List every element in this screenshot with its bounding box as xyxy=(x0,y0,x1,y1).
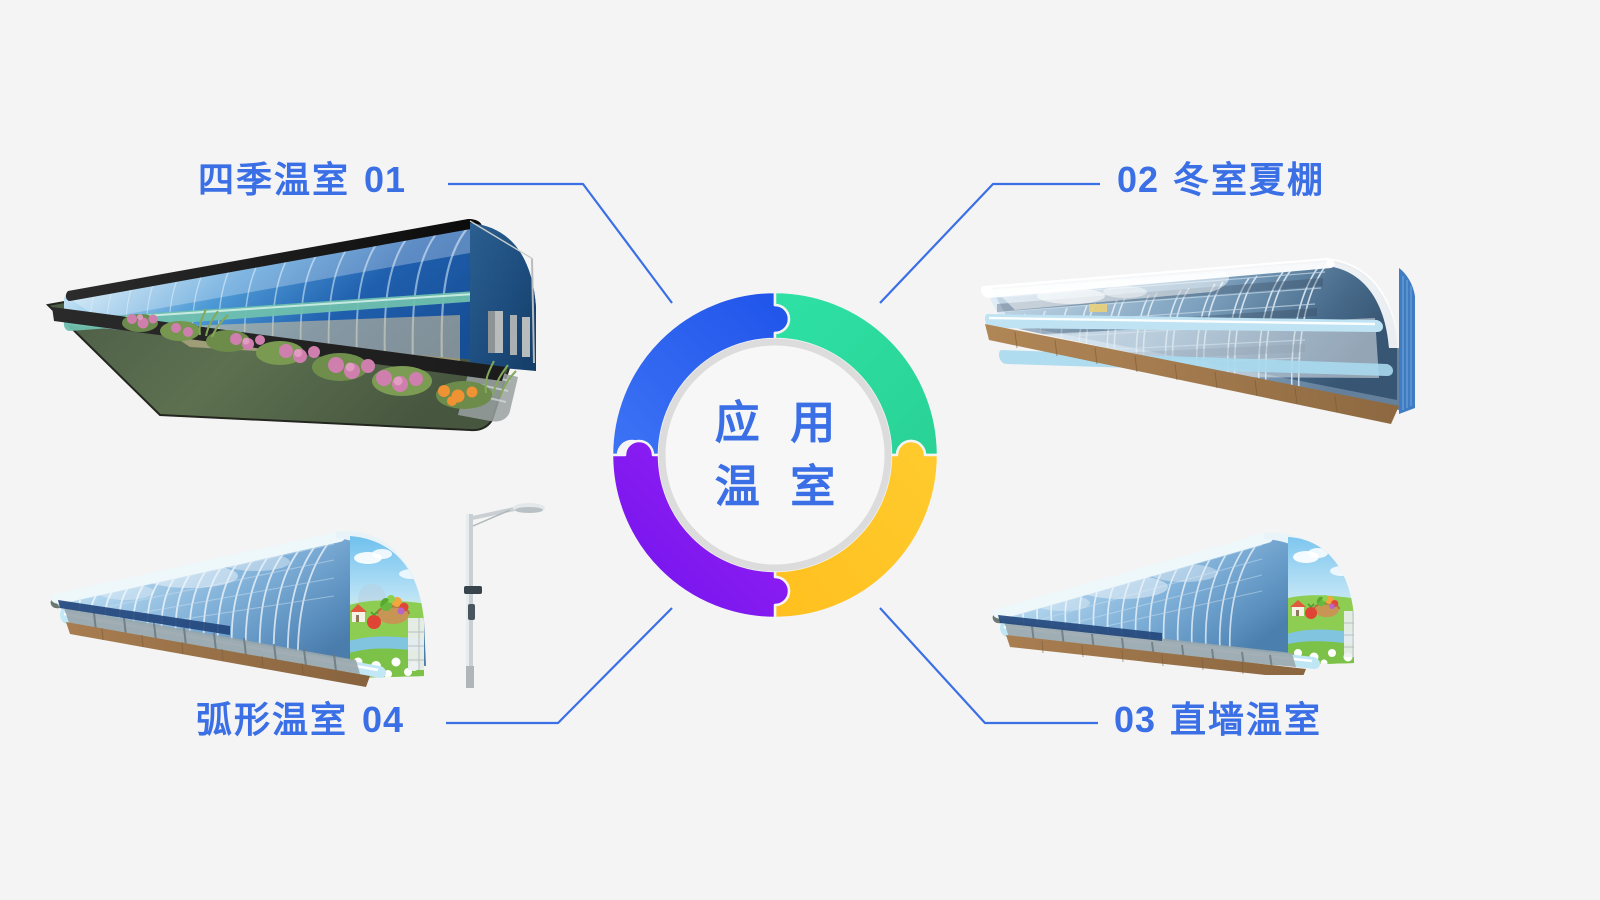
infographic-canvas: 应 用 温 室 四季温室01 02冬室夏棚 03直墙温室 弧形温室04 xyxy=(0,0,1600,900)
label-title-02: 冬室夏棚 xyxy=(1173,159,1325,200)
label-number-03: 03 xyxy=(1114,699,1156,740)
street-lamp xyxy=(464,503,545,688)
greenhouse-image-04 xyxy=(40,470,560,695)
greenhouse-image-03 xyxy=(962,495,1482,675)
label-item-02[interactable]: 02冬室夏棚 xyxy=(1117,162,1325,198)
greenhouse-image-01 xyxy=(40,215,610,445)
label-number-04: 04 xyxy=(362,699,404,740)
label-title-03: 直墙温室 xyxy=(1170,699,1322,740)
label-item-04[interactable]: 弧形温室04 xyxy=(196,702,404,738)
label-number-02: 02 xyxy=(1117,159,1159,200)
label-title-04: 弧形温室 xyxy=(196,699,348,740)
label-number-01: 01 xyxy=(364,159,406,200)
label-title-01: 四季温室 xyxy=(198,159,350,200)
greenhouse-image-02 xyxy=(975,200,1475,440)
label-item-01[interactable]: 四季温室01 xyxy=(198,162,406,198)
center-puzzle-ring xyxy=(612,292,938,618)
label-item-03[interactable]: 03直墙温室 xyxy=(1114,702,1322,738)
